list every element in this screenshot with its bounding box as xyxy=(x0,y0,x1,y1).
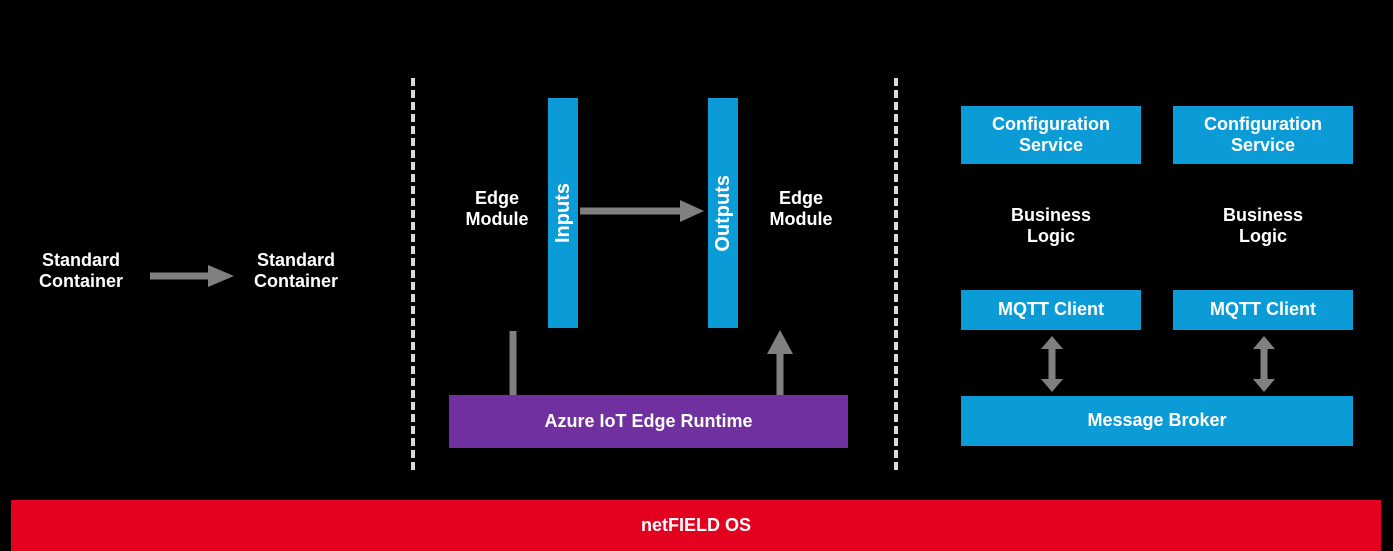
message-broker-block: Message Broker xyxy=(961,396,1353,446)
mqtt-broker-arrow-2 xyxy=(1251,336,1277,392)
diagram-canvas: Standard Container Standard Container Ed… xyxy=(0,0,1393,551)
configuration-service-box-1: Configuration Service xyxy=(961,106,1141,164)
outputs-label: Outputs xyxy=(712,175,735,252)
inputs-to-outputs-arrow xyxy=(580,198,706,224)
edge-module-right-label: Edge Module xyxy=(742,188,860,230)
netfield-os-bar: netFIELD OS xyxy=(11,500,1381,551)
azure-iot-edge-runtime-block: Azure IoT Edge Runtime xyxy=(449,395,848,448)
mqtt-client-box-2: MQTT Client xyxy=(1173,290,1353,330)
edge-module-left-label: Edge Module xyxy=(438,188,556,230)
business-logic-label-2: Business Logic xyxy=(1173,205,1353,247)
business-logic-label-1: Business Logic xyxy=(961,205,1141,247)
section-divider-left xyxy=(411,78,415,470)
configuration-service-box-2: Configuration Service xyxy=(1173,106,1353,164)
mqtt-client-box-1: MQTT Client xyxy=(961,290,1141,330)
standard-container-right-label: Standard Container xyxy=(223,250,369,292)
inputs-label: Inputs xyxy=(552,183,575,243)
mqtt-broker-arrow-1 xyxy=(1039,336,1065,392)
standard-container-left-label: Standard Container xyxy=(8,250,154,292)
inputs-bar: Inputs xyxy=(548,98,578,328)
section-divider-right xyxy=(894,78,898,470)
outputs-bar: Outputs xyxy=(708,98,738,328)
